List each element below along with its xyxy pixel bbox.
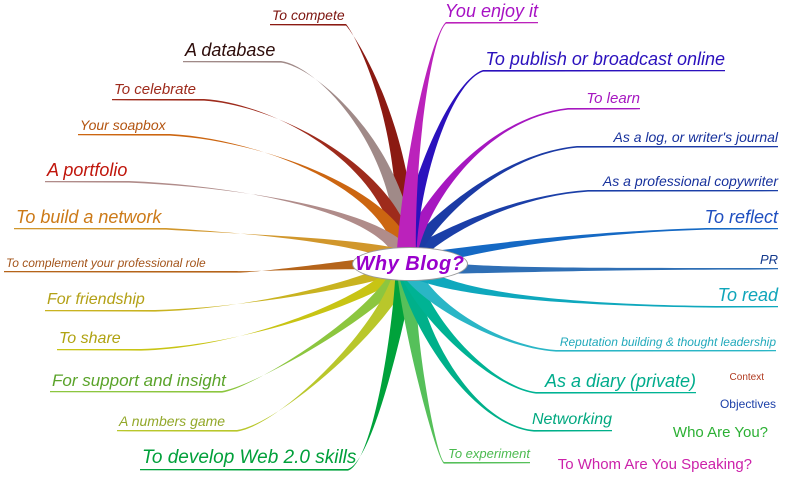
branch-label[interactable]: To read <box>718 286 778 304</box>
branch-lines-layer <box>0 0 800 483</box>
standalone-note[interactable]: To Whom Are You Speaking? <box>558 457 752 472</box>
branch-label[interactable]: To build a network <box>16 208 161 226</box>
branch-label[interactable]: You enjoy it <box>445 2 538 20</box>
center-node-label: Why Blog? <box>356 253 465 276</box>
branch-label[interactable]: To learn <box>586 91 640 106</box>
branch-label[interactable]: To reflect <box>705 208 778 226</box>
mindmap-canvas: To competeA databaseTo celebrateYour soa… <box>0 0 800 483</box>
branch-label[interactable]: To complement your professional role <box>6 257 206 269</box>
branch-label[interactable]: To compete <box>272 8 345 22</box>
branch-label[interactable]: For friendship <box>47 292 145 308</box>
branch-label[interactable]: As a log, or writer's journal <box>613 130 778 144</box>
branch-label[interactable]: To publish or broadcast online <box>486 50 726 68</box>
branch-label[interactable]: To develop Web 2.0 skills <box>142 448 356 467</box>
branch-line[interactable] <box>396 146 778 265</box>
center-node[interactable]: Why Blog? <box>352 247 468 281</box>
branch-label[interactable]: To celebrate <box>114 82 196 97</box>
standalone-note[interactable]: Objectives <box>720 398 776 410</box>
branch-label[interactable]: PR <box>760 253 778 266</box>
branch-label[interactable]: As a professional copywriter <box>603 174 778 188</box>
branch-label[interactable]: Your soapbox <box>80 118 166 132</box>
branch-label[interactable]: A database <box>185 41 275 59</box>
standalone-note[interactable]: Context <box>730 373 764 383</box>
branch-label[interactable]: Reputation building & thought leadership <box>560 336 776 348</box>
standalone-note[interactable]: Who Are You? <box>673 425 768 440</box>
branch-label[interactable]: To share <box>59 331 121 347</box>
branch-label[interactable]: Networking <box>532 412 612 428</box>
branch-label[interactable]: For support and insight <box>52 372 226 389</box>
branch-label[interactable]: A portfolio <box>47 161 127 179</box>
branch-label[interactable]: To experiment <box>448 447 530 460</box>
branch-label[interactable]: A numbers game <box>119 414 225 428</box>
branch-label[interactable]: As a diary (private) <box>545 372 696 390</box>
